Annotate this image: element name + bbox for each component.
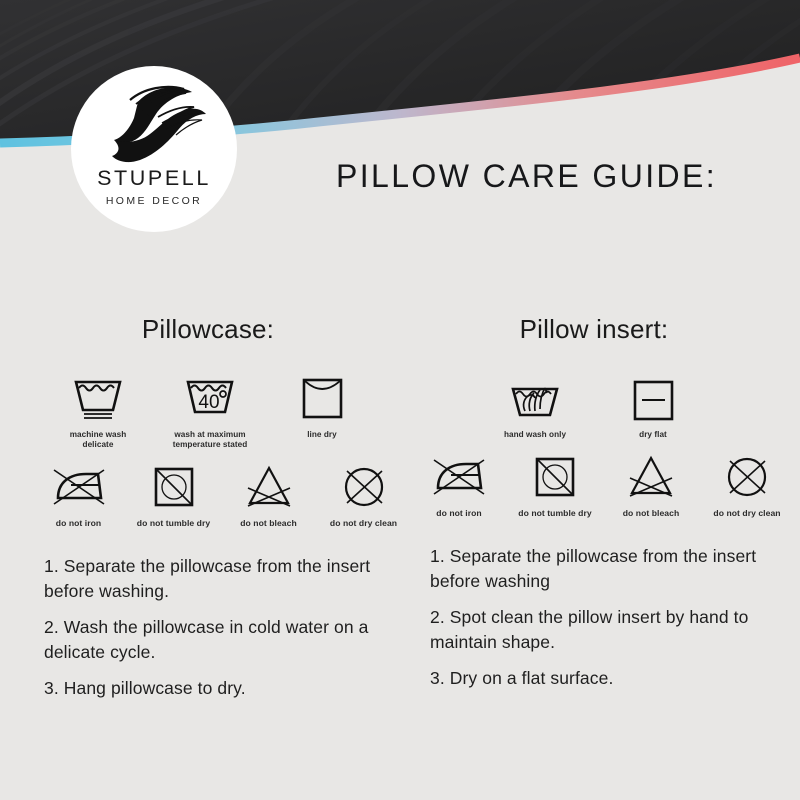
care-icon-row-wash-right: hand wash only dry flat [420,374,790,440]
swoosh-logo-icon [100,84,208,166]
dry-flat-icon [627,374,679,424]
care-item-do-not-dry-clean: do not dry clean [708,452,786,518]
hand-wash-only-icon [506,374,564,424]
care-item-wash-max-temperature: 40 wash at maximum temperature stated [171,374,249,450]
care-icon-row-wash-left: machine wash delicate 40 wash at maximum… [40,374,410,450]
pillow-care-guide-page: STUPELL HOME DECOR PILLOW CARE GUIDE: Pi… [0,0,800,800]
care-item-line-dry: line dry [283,374,361,440]
do-not-dry-clean-icon [720,452,774,502]
care-label: do not dry clean [330,518,397,528]
do-not-dry-clean-icon [337,462,391,512]
care-label: do not dry clean [713,508,780,518]
instruction-step: 3. Hang pillowcase to dry. [44,676,402,701]
care-label: machine wash delicate [70,430,127,450]
wash-max-temperature-icon: 40 [181,374,239,424]
section-pillowcase: Pillowcase: machine wash delicate [40,312,410,701]
do-not-tumble-dry-icon [147,462,201,512]
care-item-do-not-iron: do not iron [40,462,117,528]
care-label: do not iron [56,518,101,528]
care-label: hand wash only [504,430,566,440]
svg-text:40: 40 [198,392,219,413]
section-pillow-insert: Pillow insert: hand wash only [420,312,790,691]
care-label: wash at maximum temperature stated [173,430,248,450]
care-item-machine-wash-delicate: machine wash delicate [59,374,137,450]
instruction-step: 3. Dry on a flat surface. [430,666,788,691]
care-item-do-not-tumble-dry: do not tumble dry [135,462,212,528]
care-item-do-not-dry-clean: do not dry clean [325,462,402,528]
care-label: do not iron [436,508,481,518]
section-title-pillow-insert: Pillow insert: [420,312,790,348]
care-label: dry flat [639,430,667,440]
care-item-do-not-bleach: do not bleach [230,462,307,528]
do-not-bleach-icon [242,462,296,512]
care-label: do not bleach [623,508,680,518]
care-item-dry-flat: dry flat [614,374,692,440]
care-label: do not bleach [240,518,297,528]
care-item-hand-wash-only: hand wash only [496,374,574,440]
logo-tagline: HOME DECOR [106,196,202,207]
care-label: do not tumble dry [137,518,210,528]
instruction-step: 1. Separate the pillowcase from the inse… [430,544,788,594]
do-not-bleach-icon [624,452,678,502]
care-icon-row-prohibited-left: do not iron do not tumble dry [40,462,410,528]
brand-logo-badge: STUPELL HOME DECOR [71,66,237,232]
care-icon-row-prohibited-right: do not iron do not tumble dry [420,452,790,518]
care-item-do-not-tumble-dry: do not tumble dry [516,452,594,518]
do-not-tumble-dry-icon [528,452,582,502]
care-label: line dry [307,430,337,440]
instruction-list-pillowcase: 1. Separate the pillowcase from the inse… [40,554,410,701]
line-dry-icon [296,374,348,424]
do-not-iron-icon [48,462,110,512]
instruction-step: 1. Separate the pillowcase from the inse… [44,554,402,604]
do-not-iron-icon [428,452,490,502]
section-title-pillowcase: Pillowcase: [40,312,410,348]
page-title: PILLOW CARE GUIDE: [336,158,717,195]
machine-wash-delicate-icon [69,374,127,424]
instruction-step: 2. Spot clean the pillow insert by hand … [430,605,788,655]
care-label: do not tumble dry [518,508,591,518]
care-item-do-not-bleach: do not bleach [612,452,690,518]
care-item-do-not-iron: do not iron [420,452,498,518]
instruction-list-pillow-insert: 1. Separate the pillowcase from the inse… [420,544,790,691]
logo-wordmark: STUPELL [97,168,211,190]
instruction-step: 2. Wash the pillowcase in cold water on … [44,615,402,665]
